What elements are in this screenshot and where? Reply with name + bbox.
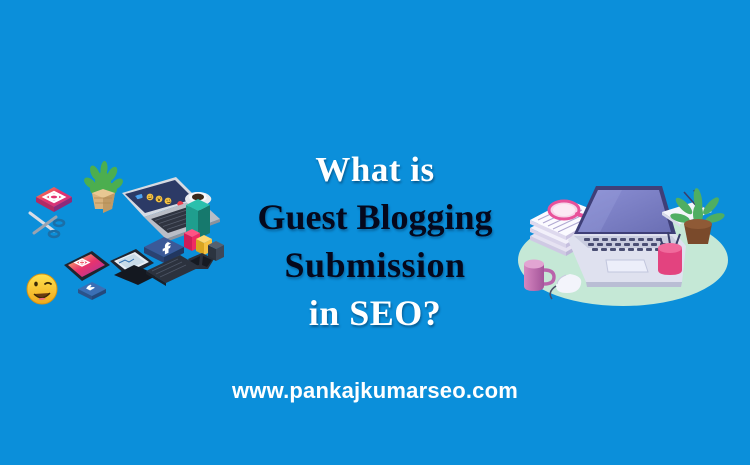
headline-line-3: Submission bbox=[225, 247, 525, 283]
headline-line-4: in SEO? bbox=[225, 295, 525, 331]
website-url: www.pankajkumarseo.com bbox=[0, 378, 750, 404]
right-illustration-desk-scene bbox=[512, 172, 734, 312]
headline-line-1: What is bbox=[225, 152, 525, 187]
banner-canvas: What is Guest Blogging Submission in SEO… bbox=[0, 0, 750, 465]
headline-line-2: Guest Blogging bbox=[225, 199, 525, 235]
thumbs-up-icon bbox=[78, 282, 106, 300]
left-illustration-social-media-workspace bbox=[18, 155, 240, 315]
winking-smiley-emoji bbox=[27, 274, 57, 304]
potted-plant bbox=[82, 161, 125, 213]
instagram-logo-icon bbox=[36, 187, 72, 212]
smartphone-instagram bbox=[64, 251, 110, 281]
headline-block: What is Guest Blogging Submission in SEO… bbox=[225, 152, 525, 331]
scissors-icon bbox=[30, 213, 64, 237]
